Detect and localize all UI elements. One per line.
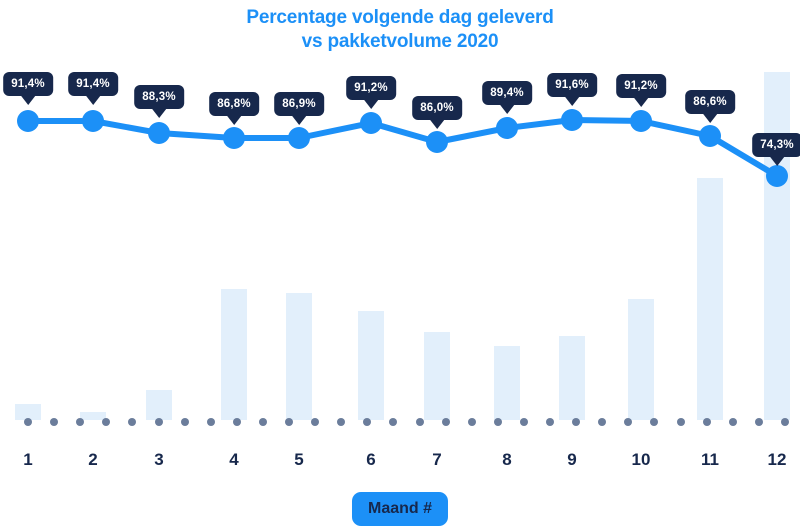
x-tick-2: 2 [88,450,97,470]
data-label-month-11: 86,6% [685,90,735,114]
x-tick-10: 10 [632,450,651,470]
x-tick-11: 11 [701,450,719,470]
axis-dot [442,418,450,426]
axis-dot [520,418,528,426]
data-label-month-12: 74,3% [752,133,800,157]
x-axis-title-badge: Maand # [352,492,448,526]
line-marker-month-5[interactable] [288,127,310,149]
data-label-month-10: 91,2% [616,74,666,98]
axis-dot [416,418,424,426]
axis-dot [755,418,763,426]
data-label-month-1: 91,4% [3,72,53,96]
line-marker-month-10[interactable] [630,110,652,132]
line-path [28,120,777,176]
data-label-month-2: 91,4% [68,72,118,96]
data-label-month-7: 86,0% [412,96,462,120]
data-label-month-8: 89,4% [482,81,532,105]
axis-dot [546,418,554,426]
axis-dot [781,418,789,426]
axis-dot [494,418,502,426]
x-axis-tick-labels: 123456789101112 [0,450,800,478]
line-marker-month-2[interactable] [82,110,104,132]
line-marker-month-7[interactable] [426,131,448,153]
axis-dot [207,418,215,426]
axis-dot [729,418,737,426]
chart-title-line-2: vs pakketvolume 2020 [0,30,800,54]
axis-dot [677,418,685,426]
axis-dot [259,418,267,426]
line-marker-month-3[interactable] [148,122,170,144]
x-tick-8: 8 [502,450,511,470]
chart-container: Percentage volgende dag geleverd vs pakk… [0,0,800,532]
line-marker-month-8[interactable] [496,117,518,139]
chart-title-line-1: Percentage volgende dag geleverd [0,6,800,30]
x-tick-12: 12 [768,450,787,470]
axis-dot [181,418,189,426]
page-title: Percentage volgende dag geleverd vs pakk… [0,6,800,54]
line-marker-month-6[interactable] [360,112,382,134]
line-series-percentage [0,60,800,425]
line-marker-month-12[interactable] [766,165,788,187]
axis-dot [155,418,163,426]
data-label-month-5: 86,9% [274,92,324,116]
axis-dot [285,418,293,426]
data-label-month-4: 86,8% [209,92,259,116]
x-tick-4: 4 [229,450,238,470]
data-label-month-9: 91,6% [547,73,597,97]
x-tick-6: 6 [366,450,375,470]
line-marker-month-9[interactable] [561,109,583,131]
x-tick-7: 7 [432,450,441,470]
axis-dot [233,418,241,426]
axis-dot [468,418,476,426]
plot-area: 91,4%91,4%88,3%86,8%86,9%91,2%86,0%89,4%… [0,60,800,425]
axis-dot [24,418,32,426]
x-tick-3: 3 [154,450,163,470]
axis-dot [703,418,711,426]
line-marker-month-1[interactable] [17,110,39,132]
line-marker-month-11[interactable] [699,125,721,147]
data-label-month-6: 91,2% [346,76,396,100]
x-tick-9: 9 [567,450,576,470]
line-marker-month-4[interactable] [223,127,245,149]
data-label-month-3: 88,3% [134,85,184,109]
x-tick-1: 1 [23,450,32,470]
x-tick-5: 5 [294,450,303,470]
